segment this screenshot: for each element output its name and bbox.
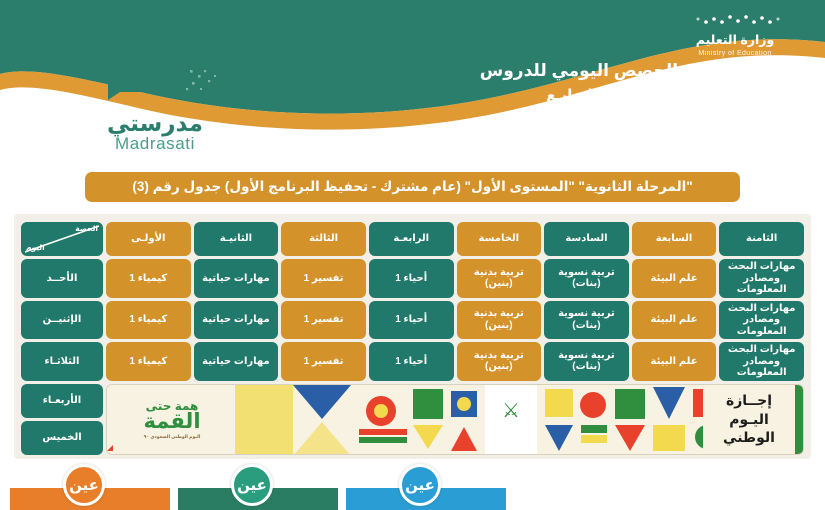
madrasati-name-english: Madrasati [80, 135, 230, 153]
madrasati-logo: مدرستي Madrasati [80, 58, 230, 153]
period-header-8: الثامنة [719, 222, 804, 256]
ein-badge-green[interactable]: عين [231, 464, 273, 506]
subject-cell: تربية بدنية (بنين) [457, 342, 542, 381]
corner-header-cell: الحصة اليوم [21, 222, 103, 256]
holiday-line-1: إجــازة [726, 391, 772, 410]
subject-cell: تربية نسوية (بنات) [544, 259, 629, 298]
day-label-wednesday: الأربعـاء [21, 384, 103, 418]
holiday-line-3: الوطني [723, 428, 775, 447]
svg-text:⚔: ⚔ [502, 398, 520, 422]
subject-cell: تفسير 1 [281, 342, 366, 381]
ein-badge-group-blue[interactable]: عين [346, 484, 506, 510]
footer-badges: عين عين عين [0, 472, 825, 510]
period-header-7: السابعة [632, 222, 717, 256]
subject-cell: مهارات البحث ومصادر المعلومات [719, 259, 804, 298]
schedule-title: جدول الحصص اليومي للدروس [415, 58, 795, 84]
subject-cell: مهارات البحث ومصادر المعلومات [719, 342, 804, 381]
subject-cell: تفسير 1 [281, 301, 366, 340]
subject-cell: تفسير 1 [281, 259, 366, 298]
subject-cell: أحياء 1 [369, 342, 454, 381]
day-label-thursday: الخميس [21, 421, 103, 455]
subject-cell: علم البيئة [632, 342, 717, 381]
day-label-tuesday: الثلاثـاء [21, 342, 103, 381]
table-row: مهارات البحث ومصادر المعلومات علم البيئة… [21, 342, 804, 381]
period-header-6: السادسة [544, 222, 629, 256]
ministry-name-english: Ministry of Education [660, 49, 810, 58]
national-day-banner: ⚔ [106, 384, 804, 455]
madrasati-name-arabic: مدرستي [80, 111, 230, 135]
period-header-2: الثانيـة [194, 222, 279, 256]
ein-badge-group-green[interactable]: عين [178, 484, 338, 510]
day-label-monday: الإثنيــن [21, 301, 103, 340]
ministry-logo: وزارة التعليم Ministry of Education [660, 14, 810, 58]
ein-badge-group-orange[interactable]: عين [10, 484, 170, 510]
slogan-main-text: القمة [144, 411, 201, 432]
subject-cell: مهارات حياتية [194, 259, 279, 298]
ein-badge-orange[interactable]: عين [63, 464, 105, 506]
holiday-text: إجــازة اليـوم الوطني [703, 385, 795, 454]
period-header-3: الثالثة [281, 222, 366, 256]
kingdom-media-department-label: الإدارة العامة للإعلام والاتصال [150, 0, 266, 9]
corner-day-label: اليوم [26, 244, 45, 253]
schedule-table: الثامنة السابعة السادسة الخامسة الرابعـة… [18, 219, 807, 458]
holiday-line-2: اليـوم [729, 410, 769, 429]
subject-cell: مهارات البحث ومصادر المعلومات [719, 301, 804, 340]
table-row-national-day: ⚔ [21, 384, 804, 418]
day-label-sunday: الأحــد [21, 259, 103, 298]
subject-cell: كيمياء 1 [106, 259, 191, 298]
national-day-holiday-banner-cell: ⚔ [106, 384, 804, 455]
slogan-sub-text: اليوم الوطني السعودي ٩٠ [144, 434, 201, 439]
subject-cell: تربية بدنية (بنين) [457, 259, 542, 298]
national-day-slogan-badge: همة حتى القمة اليوم الوطني السعودي ٩٠ [113, 389, 231, 451]
subject-cell: تربية نسوية (بنات) [544, 342, 629, 381]
ministry-name-arabic: وزارة التعليم [660, 33, 810, 49]
subject-cell: كيمياء 1 [106, 342, 191, 381]
madrasati-book-icon [80, 58, 230, 106]
period-header-4: الرابعـة [369, 222, 454, 256]
ein-badge-blue[interactable]: عين [399, 464, 441, 506]
subject-cell: أحياء 1 [369, 301, 454, 340]
header-title-block: جدول الحصص اليومي للدروس الأسبوع: الـراب… [415, 58, 795, 108]
subject-cell: كيمياء 1 [106, 301, 191, 340]
table-row: مهارات البحث ومصادر المعلومات علم البيئة… [21, 259, 804, 298]
period-header-5: الخامسة [457, 222, 542, 256]
schedule-panel: الثامنة السابعة السادسة الخامسة الرابعـة… [14, 214, 811, 459]
period-header-1: الأولـى [106, 222, 191, 256]
week-number-label: الأسبوع: الـرابـع [415, 84, 795, 108]
table-header-row: الثامنة السابعة السادسة الخامسة الرابعـة… [21, 222, 804, 256]
table-row: مهارات البحث ومصادر المعلومات علم البيئة… [21, 301, 804, 340]
subject-cell: مهارات حياتية [194, 301, 279, 340]
subject-cell: علم البيئة [632, 301, 717, 340]
program-title-bar: "المرحلة الثانوية" "المستوى الأول" (عام … [85, 172, 740, 202]
subject-cell: علم البيئة [632, 259, 717, 298]
corner-period-label: الحصة [75, 225, 98, 234]
subject-cell: تربية بدنية (بنين) [457, 301, 542, 340]
subject-cell: مهارات حياتية [194, 342, 279, 381]
subject-cell: أحياء 1 [369, 259, 454, 298]
subject-cell: تربية نسوية (بنات) [544, 301, 629, 340]
ministry-dot-pattern-icon [660, 14, 810, 26]
